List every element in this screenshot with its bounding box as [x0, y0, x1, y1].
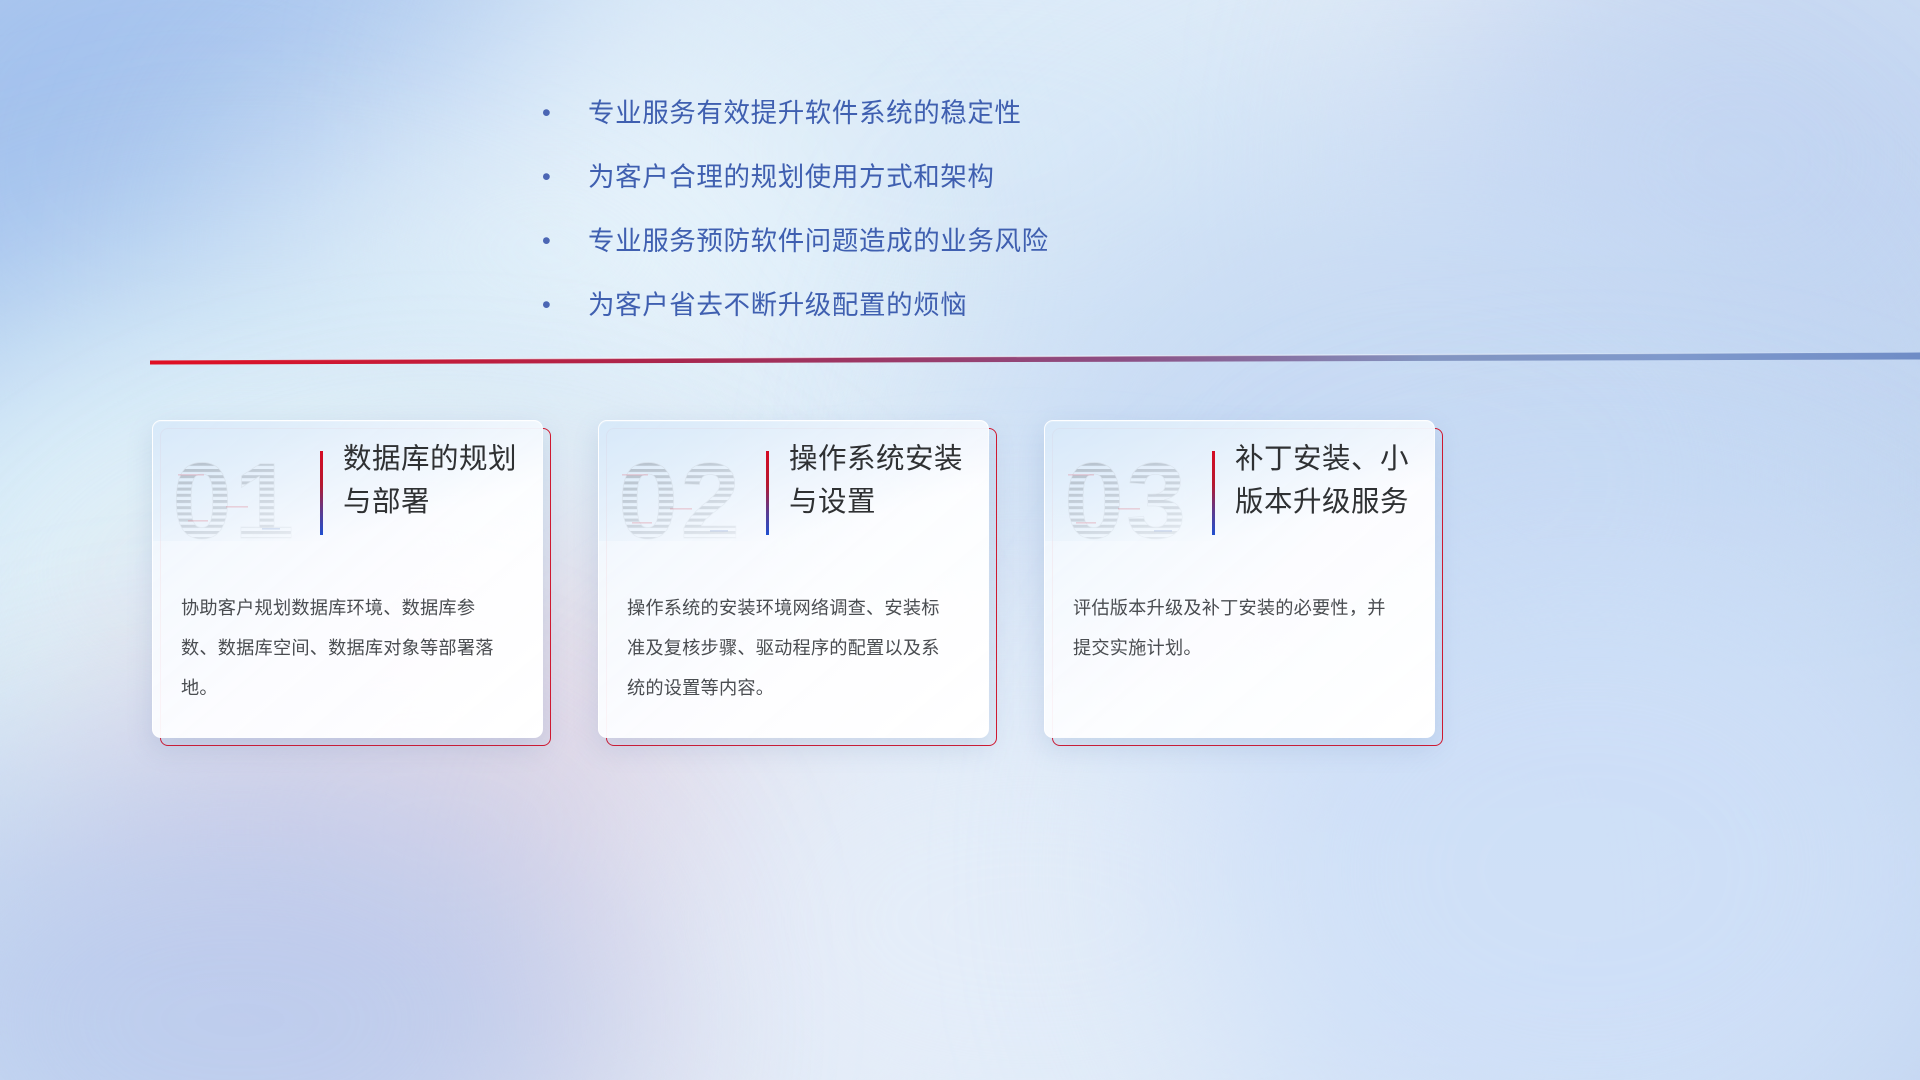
bullet-text: 专业服务预防软件问题造成的业务风险 [588, 216, 1049, 266]
bullet-dot-icon: • [536, 152, 588, 202]
bullet-dot-icon: • [536, 216, 588, 266]
card-number-watermark: 02 02 [616, 438, 766, 558]
card-title: 操作系统安装与设置 [789, 438, 989, 524]
service-card[interactable]: 02 02 操作系统安装与设置 操作系统的安装环境网络调查、安装标准及复核步骤、… [598, 420, 989, 738]
card-title: 补丁安装、小版本升级服务 [1235, 438, 1435, 524]
service-card[interactable]: 03 03 补丁安装、小版本升级服务 评估版本升级及补丁安装的必要性，并提交实施… [1044, 420, 1435, 738]
card-header: 02 02 操作系统安装与设置 [598, 438, 989, 570]
bullet-text: 专业服务有效提升软件系统的稳定性 [588, 88, 1022, 138]
card-title: 数据库的规划与部署 [343, 438, 543, 524]
service-card-row: 01 01 数据库的规划与部署 协助客户规划数据库环境、数据库参数、数据库空间、… [0, 420, 1920, 760]
list-item: • 为客户合理的规划使用方式和架构 [536, 152, 1296, 216]
card-number-watermark: 03 03 [1062, 438, 1212, 558]
card-description: 评估版本升级及补丁安装的必要性，并提交实施计划。 [1073, 588, 1403, 668]
card-accent-bar [766, 451, 769, 535]
svg-text:02: 02 [618, 440, 742, 558]
card-accent-bar [1212, 451, 1215, 535]
benefits-bullet-list: • 专业服务有效提升软件系统的稳定性 • 为客户合理的规划使用方式和架构 • 专… [536, 88, 1296, 344]
svg-text:01: 01 [172, 440, 296, 558]
bullet-dot-icon: • [536, 88, 588, 138]
card-header: 03 03 补丁安装、小版本升级服务 [1044, 438, 1435, 570]
section-divider [150, 340, 1920, 366]
card-number-watermark: 01 01 [170, 438, 320, 558]
service-card[interactable]: 01 01 数据库的规划与部署 协助客户规划数据库环境、数据库参数、数据库空间、… [152, 420, 543, 738]
card-accent-bar [320, 451, 323, 535]
list-item: • 专业服务有效提升软件系统的稳定性 [536, 88, 1296, 152]
svg-text:03: 03 [1064, 440, 1188, 558]
card-header: 01 01 数据库的规划与部署 [152, 438, 543, 570]
card-description: 协助客户规划数据库环境、数据库参数、数据库空间、数据库对象等部署落地。 [181, 588, 511, 708]
bullet-text: 为客户合理的规划使用方式和架构 [588, 152, 995, 202]
list-item: • 为客户省去不断升级配置的烦恼 [536, 280, 1296, 344]
list-item: • 专业服务预防软件问题造成的业务风险 [536, 216, 1296, 280]
bullet-text: 为客户省去不断升级配置的烦恼 [588, 280, 967, 330]
bullet-dot-icon: • [536, 280, 588, 330]
card-description: 操作系统的安装环境网络调查、安装标准及复核步骤、驱动程序的配置以及系统的设置等内… [627, 588, 957, 708]
